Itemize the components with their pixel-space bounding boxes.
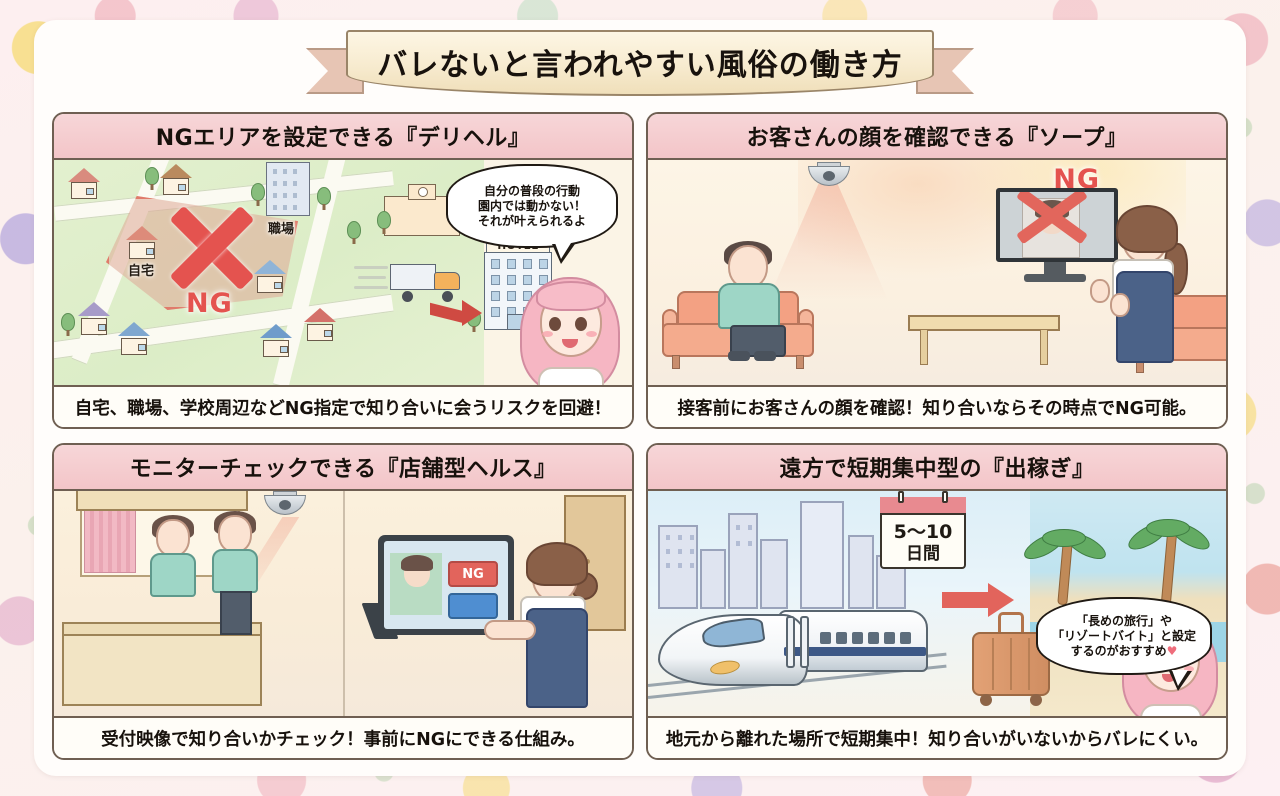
panel-1-illustration: NG 自宅 職場: [54, 160, 632, 385]
panel-delivery-health: NGエリアを設定できる『デリヘル』 NG 自宅: [52, 112, 634, 429]
panel-1-header: NGエリアを設定できる『デリヘル』: [54, 114, 632, 160]
ribbon-banner: バレないと言われやすい風俗の働き方: [346, 30, 934, 96]
speech-bubble-1: 自分の普段の行動 園内では動かない！ それが叶えられるよ: [446, 164, 618, 248]
panel-2-header: お客さんの顔を確認できる『ソープ』: [648, 114, 1226, 160]
male-customer-figure: [710, 245, 800, 361]
female-staff-figure: [1106, 209, 1208, 381]
shinkansen-train: [658, 572, 926, 692]
security-monitor: [996, 188, 1118, 286]
infographic-card: バレないと言われやすい風俗の働き方 NGエリアを設定できる『デリヘル』 NG: [34, 20, 1246, 776]
panel-2-illustration: NG: [648, 160, 1226, 385]
panel-2-caption: 接客前にお客さんの顔を確認！知り合いならその時点でNG可能。: [648, 385, 1226, 427]
overhead-shelf: [76, 491, 248, 511]
speed-line: [358, 276, 386, 279]
speed-line: [354, 286, 388, 289]
page-title: バレないと言われやすい風俗の働き方: [377, 40, 903, 84]
panel-dekasegi: 遠方で短期集中型の『出稼ぎ』: [646, 443, 1228, 760]
truck-icon: [390, 262, 464, 302]
panel-1-caption: 自宅、職場、学校周辺などNG指定で知り合いに会うリスクを回避！: [54, 385, 632, 427]
house-icon-home: [126, 226, 160, 259]
house-icon: [260, 324, 294, 357]
speech-bubble-4-tail: [1169, 671, 1192, 691]
panel-store-health: モニターチェックできる『店舗型ヘルス』: [52, 443, 634, 760]
tree-icon: [144, 166, 160, 190]
speech-bubble-1-tail: [552, 244, 575, 264]
house-icon: [78, 302, 112, 335]
panel-grid: NGエリアを設定できる『デリヘル』 NG 自宅: [52, 112, 1228, 760]
panel-3-title: モニターチェックできる『店舗型ヘルス』: [129, 451, 556, 483]
speech-bubble-1-text: 自分の普段の行動 園内では動かない！ それが叶えられるよ: [478, 184, 586, 229]
panel-4-caption-text: 地元から離れた場所で短期集中！知り合いがいないからバレにくい。: [666, 726, 1208, 751]
ng-button-label: NG: [462, 567, 484, 582]
speed-line: [354, 266, 388, 269]
house-icon: [304, 308, 338, 341]
coffee-table: [908, 315, 1060, 363]
panel-divider: [343, 491, 345, 716]
bubble-line-with-heart: するのがおすすめ♥: [1052, 644, 1196, 659]
panel-3-header: モニターチェックできる『店舗型ヘルス』: [54, 445, 632, 491]
dome-camera-icon: [264, 491, 306, 517]
panel-1-title: NGエリアを設定できる『デリヘル』: [156, 120, 531, 152]
workplace-label: 職場: [268, 218, 294, 237]
ng-label-map: NG: [186, 288, 233, 319]
panel-4-illustration: 5〜10 日間: [648, 491, 1226, 716]
red-x-icon: [164, 200, 260, 296]
tree-icon: [346, 220, 362, 244]
calendar-unit-label: 日間: [880, 539, 966, 564]
palm-tree-icon: [1134, 525, 1204, 607]
bubble-line: するのがおすすめ: [1071, 644, 1167, 658]
panel-4-header: 遠方で短期集中型の『出稼ぎ』: [648, 445, 1226, 491]
title-ribbon: バレないと言われやすい風俗の働き方: [310, 26, 970, 104]
bubble-line: 自分の普段の行動: [478, 184, 586, 199]
office-building-icon: [266, 162, 310, 216]
tree-icon: [376, 210, 392, 234]
red-arrow-icon: [430, 300, 482, 326]
bubble-line: 「長めの旅行」や: [1052, 614, 1196, 629]
home-label: 自宅: [128, 260, 154, 279]
panel-2-title: お客さんの顔を確認できる『ソープ』: [747, 120, 1128, 152]
pink-curtain: [84, 501, 136, 573]
bubble-line: それが叶えられるよ: [478, 214, 586, 229]
bubble-line: 「リゾートバイト」と設定: [1052, 629, 1196, 644]
customer-figure: [212, 515, 258, 637]
calendar-icon: 5〜10 日間: [880, 497, 966, 569]
house-icon: [160, 164, 192, 195]
tree-icon: [60, 312, 76, 336]
panel-1-caption-text: 自宅、職場、学校周辺などNG指定で知り合いに会うリスクを回避！: [75, 395, 612, 420]
house-icon: [68, 168, 100, 199]
house-icon: [118, 322, 152, 355]
panel-soapland: お客さんの顔を確認できる『ソープ』: [646, 112, 1228, 429]
ok-button-on-tablet[interactable]: [448, 593, 498, 619]
heart-icon: ♥: [1167, 644, 1178, 658]
palm-tree-icon: [1030, 535, 1100, 605]
panel-3-caption-text: 受付映像で知り合いかチェック！事前にNGにできる仕組み。: [101, 726, 585, 751]
dome-camera-icon: [808, 162, 850, 188]
female-staff-figure: [512, 546, 622, 716]
panel-3-caption: 受付映像で知り合いかチェック！事前にNGにできる仕組み。: [54, 716, 632, 758]
panel-2-caption-text: 接客前にお客さんの顔を確認！知り合いならその時点でNG可能。: [677, 395, 1196, 420]
pink-hair-character-avatar: [514, 267, 626, 385]
speech-bubble-4: 「長めの旅行」や 「リゾートバイト」と設定 するのがおすすめ♥: [1036, 597, 1212, 675]
panel-4-caption: 地元から離れた場所で短期集中！知り合いがいないからバレにくい。: [648, 716, 1226, 758]
speech-bubble-4-text: 「長めの旅行」や 「リゾートバイト」と設定 するのがおすすめ♥: [1052, 614, 1196, 659]
bubble-line: 園内では動かない！: [478, 199, 586, 214]
panel-4-title: 遠方で短期集中型の『出稼ぎ』: [779, 451, 1094, 483]
ng-button-on-tablet[interactable]: NG: [448, 561, 498, 587]
panel-3-illustration: NG: [54, 491, 632, 716]
receptionist-figure: [150, 519, 196, 599]
tree-icon: [316, 186, 332, 210]
